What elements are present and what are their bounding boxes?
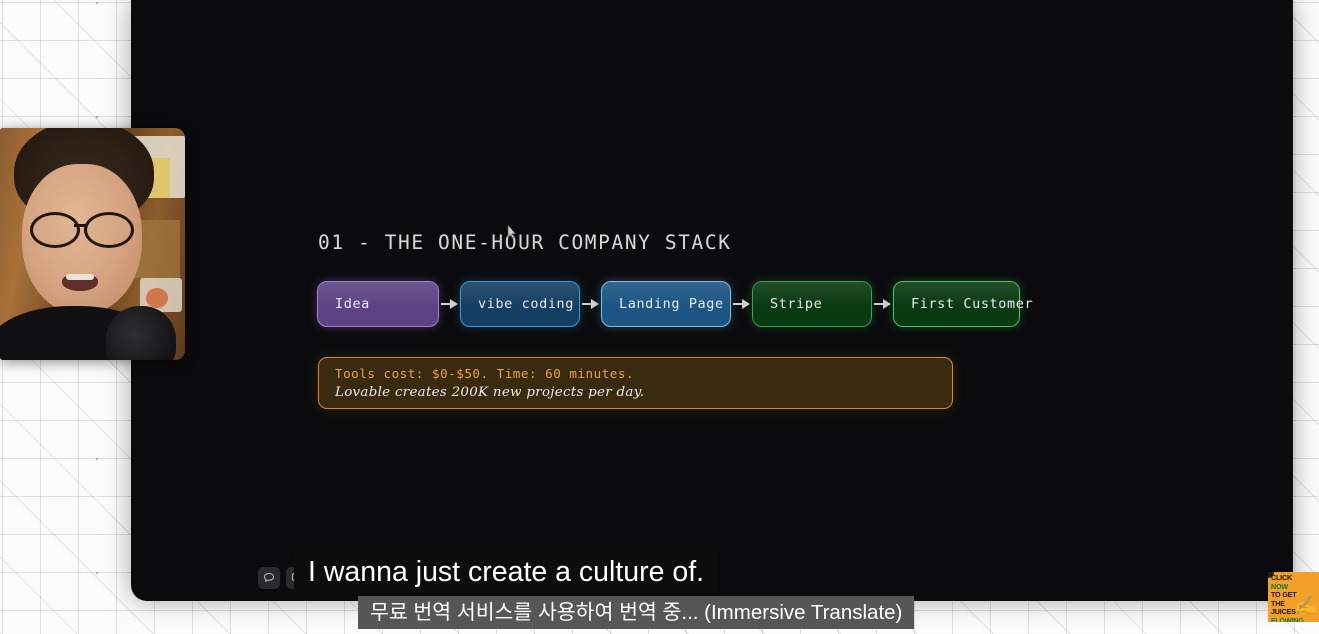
callout-line-secondary: Lovable creates 200K new projects per da…: [335, 385, 936, 400]
flow-arrow-icon: [731, 299, 752, 309]
ad-badge[interactable]: CLICK NOW TO GET THE JUICES FLOWING ✍: [1268, 572, 1319, 622]
flow-node-vibe-coding[interactable]: vibe coding: [460, 281, 580, 327]
mouse-cursor-icon: [507, 225, 516, 239]
subtitle-english: I wanna just create a culture of.: [294, 552, 718, 593]
flow-node-label: Landing Page: [619, 296, 724, 312]
flow-node-landing-page[interactable]: Landing Page: [601, 281, 731, 327]
flow-node-label: Stripe: [770, 296, 822, 312]
comment-button[interactable]: [258, 567, 280, 589]
slide-stage: 01 - THE ONE-HOUR COMPANY STACK Idea vib…: [131, 0, 1293, 601]
flow-node-label: First Customer: [911, 296, 1033, 312]
glasses-icon: [28, 212, 140, 242]
person-teeth: [66, 274, 94, 280]
flow-node-first-customer[interactable]: First Customer: [893, 281, 1020, 327]
flow-node-stripe[interactable]: Stripe: [752, 281, 872, 327]
flow-arrow-icon: [439, 299, 460, 309]
flow-node-label: vibe coding: [478, 296, 574, 312]
flow-diagram: Idea vibe coding Landing Page Stripe Fir…: [317, 281, 1020, 327]
slide-heading-01: 01 - THE ONE-HOUR COMPANY STACK: [318, 231, 732, 254]
glasses-lens-right: [84, 212, 134, 248]
callout-line-primary: Tools cost: $0-$50. Time: 60 minutes.: [335, 366, 936, 381]
comment-icon: [263, 572, 275, 584]
glasses-bridge: [74, 224, 86, 227]
webcam-shelf-item: [146, 288, 168, 308]
glasses-lens-left: [30, 212, 80, 248]
flow-node-idea[interactable]: Idea: [317, 281, 439, 327]
flow-arrow-icon: [580, 299, 601, 309]
subtitle-korean: 무료 번역 서비스를 사용하여 번역 중... (Immersive Trans…: [358, 596, 914, 629]
flow-arrow-icon: [872, 299, 893, 309]
webcam-overlay[interactable]: [0, 128, 185, 360]
callout-box: Tools cost: $0-$50. Time: 60 minutes. Lo…: [318, 357, 953, 409]
hand-icon: ✍: [1294, 597, 1318, 616]
video-player-panel[interactable]: 01 - THE ONE-HOUR COMPANY STACK Idea vib…: [131, 0, 1293, 601]
flow-node-label: Idea: [335, 296, 370, 312]
